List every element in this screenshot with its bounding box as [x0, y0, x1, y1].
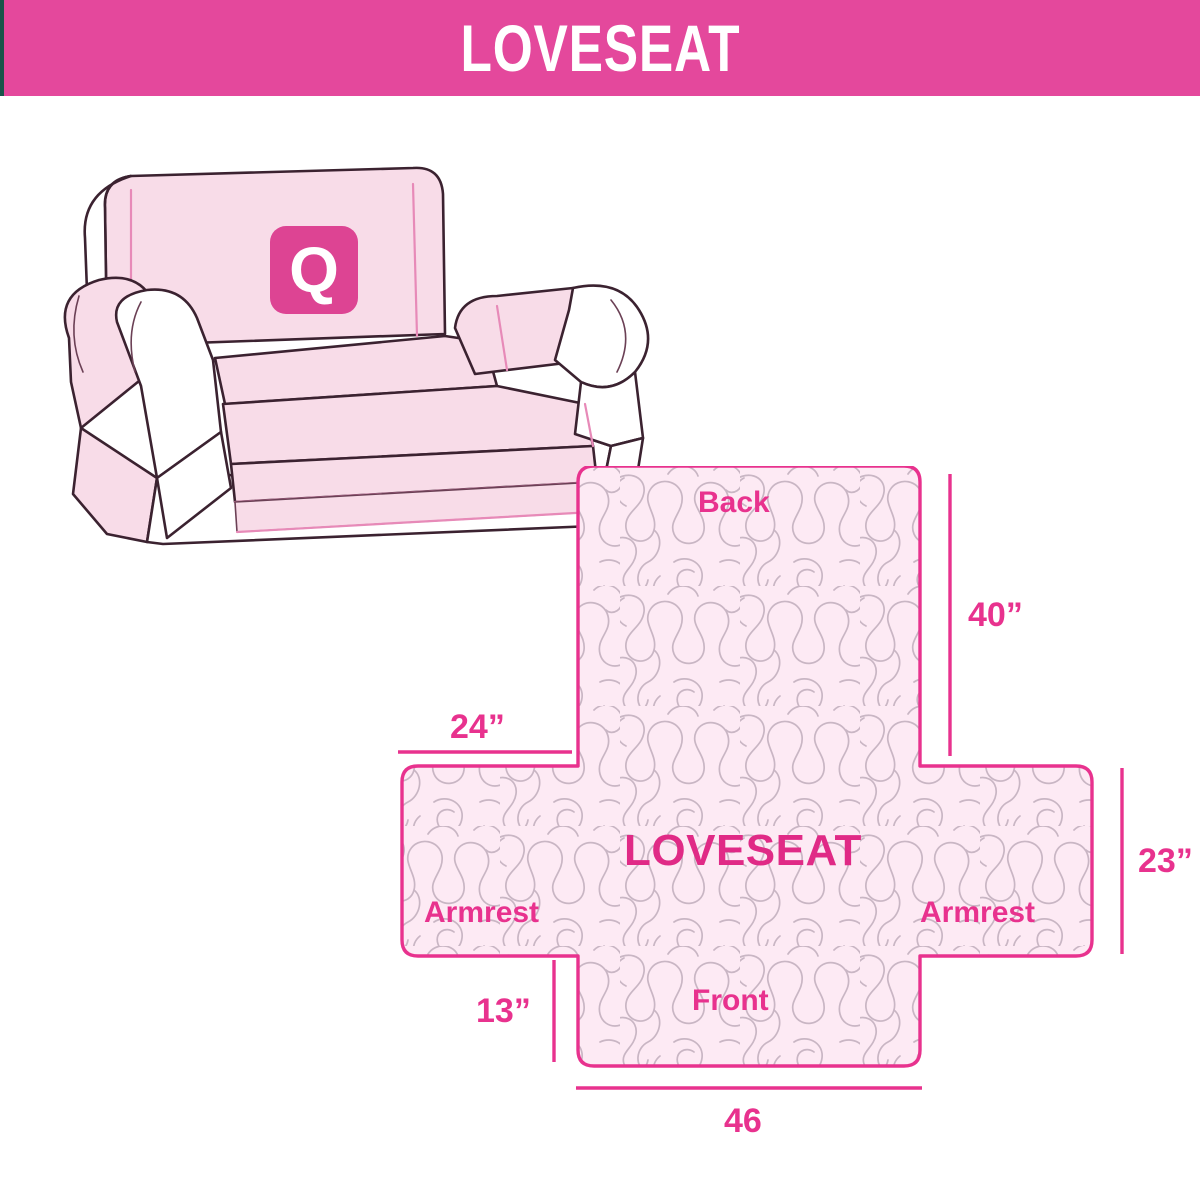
header-banner: LOVESEAT: [0, 0, 1200, 96]
dimension-label-back-height: 40”: [968, 596, 1023, 635]
panel-label-armrest-left: Armrest: [424, 896, 539, 930]
panel-label-back: Back: [698, 486, 770, 520]
dimension-label-back-offset: 24”: [450, 708, 505, 747]
q-logo-letter: Q: [289, 234, 339, 306]
diagram-center-label: LOVESEAT: [624, 826, 862, 876]
dimension-label-seat-depth: 23”: [1138, 842, 1193, 881]
header-edge-strip: [0, 0, 4, 96]
page-title: LOVESEAT: [460, 15, 740, 81]
cover-layout-diagram: Back Armrest Armrest Front LOVESEAT 40” …: [380, 466, 1180, 1186]
panel-label-armrest-right: Armrest: [920, 896, 1035, 930]
dimension-label-front-drop: 13”: [476, 992, 531, 1031]
q-logo: Q: [270, 226, 358, 314]
cover-shape: [402, 466, 1092, 1066]
cover-outline: [402, 466, 1092, 1066]
dimension-label-total-width: 46: [724, 1102, 762, 1141]
panel-label-front: Front: [692, 984, 769, 1018]
content-stage: .ol { fill:none; stroke:#3b2230; stroke-…: [0, 96, 1200, 1200]
